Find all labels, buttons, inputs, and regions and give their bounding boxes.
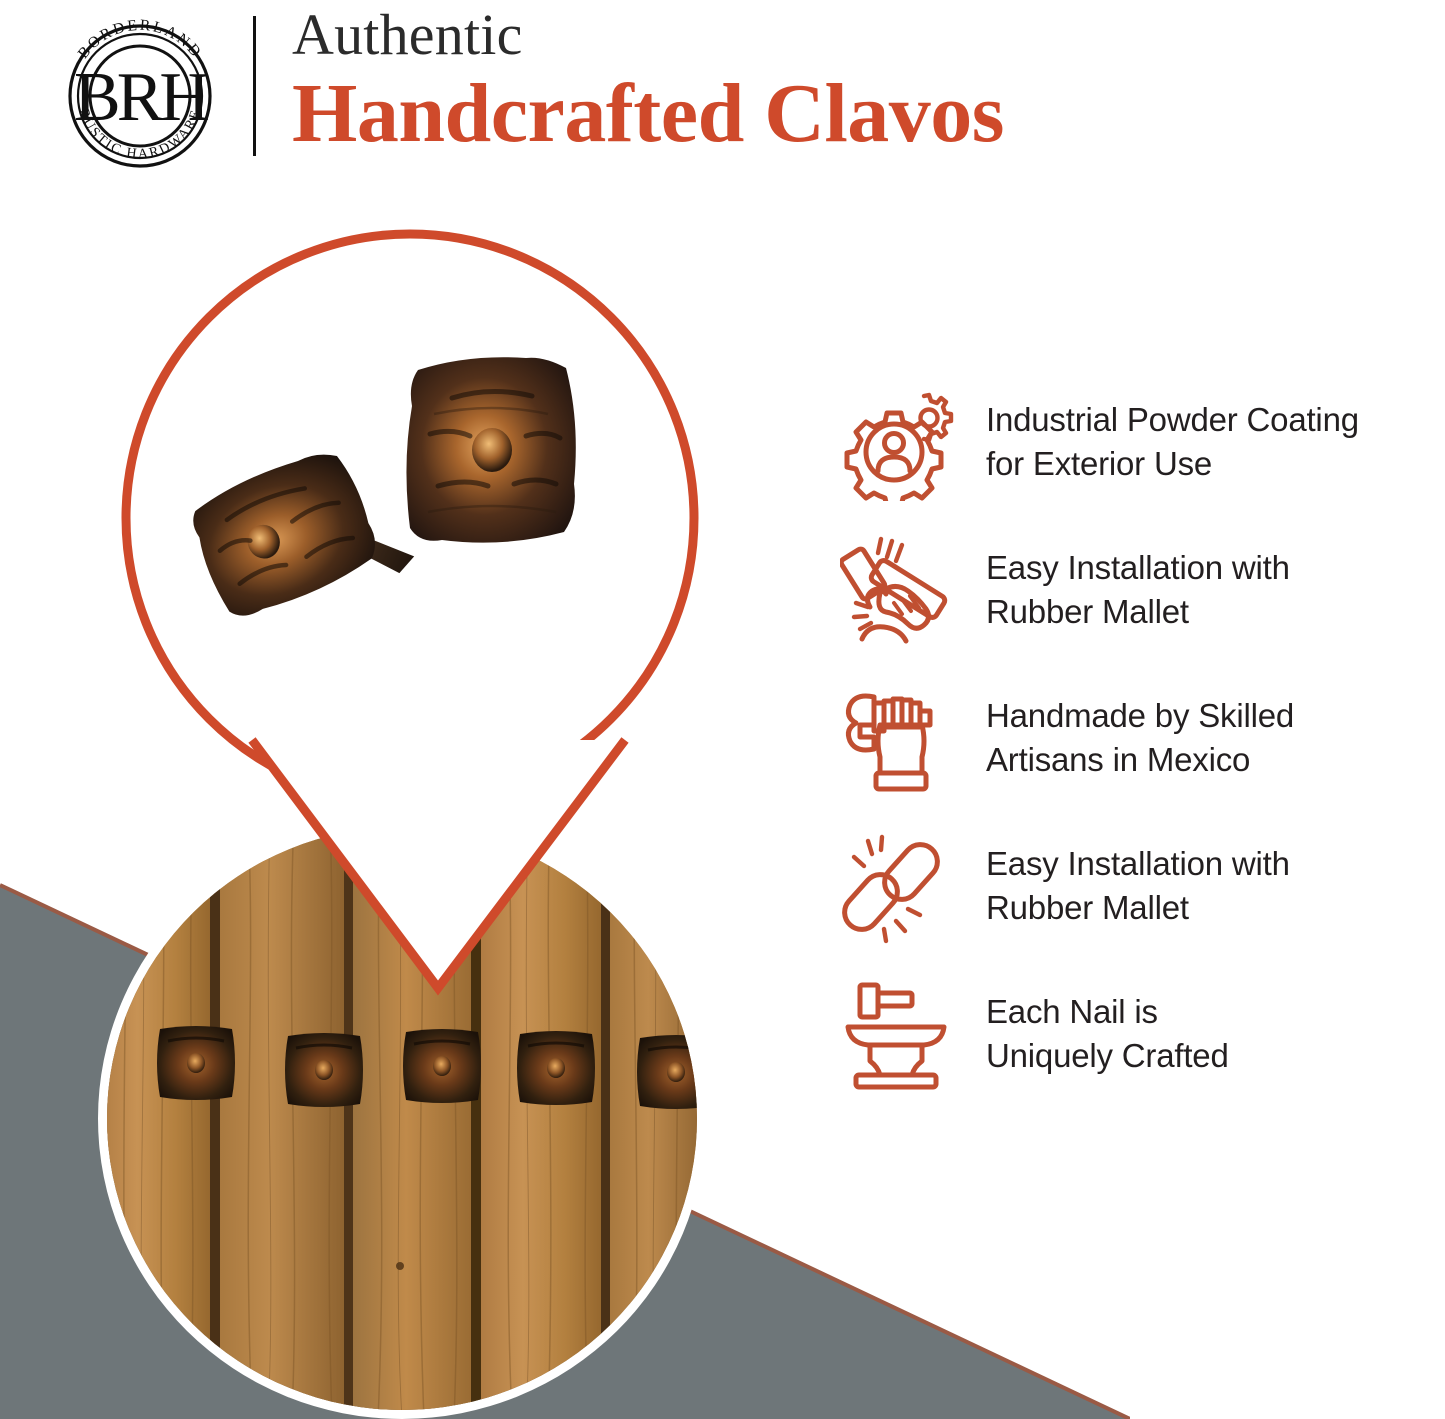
- clavos-product-photo: [140, 330, 700, 750]
- feature-item: Easy Installation with Rubber Mallet: [840, 516, 1445, 664]
- feature-label: Industrial Powder Coating for Exterior U…: [986, 398, 1359, 486]
- gear-person-icon: [840, 383, 958, 501]
- wooden-door-photo-circle: [98, 818, 706, 1419]
- chain-link-icon: [840, 827, 958, 945]
- hand-mallet-icon: [840, 531, 958, 649]
- svg-text:BRH: BRH: [74, 59, 208, 136]
- borderland-rustic-hardware-logo-icon: BORDERLAND RUSTIC HARDWARE BRH: [52, 12, 227, 172]
- clavo-nail-front: [406, 357, 575, 542]
- page-header: BORDERLAND RUSTIC HARDWARE BRH Authentic…: [0, 0, 1445, 190]
- page-subtitle: Authentic: [292, 4, 1392, 66]
- clavo-nail-angled: [182, 432, 418, 639]
- feature-label: Each Nail is Uniquely Crafted: [986, 990, 1229, 1078]
- feature-item: Handmade by Skilled Artisans in Mexico: [840, 664, 1445, 812]
- feature-item: Easy Installation with Rubber Mallet: [840, 812, 1445, 960]
- feature-item: Each Nail is Uniquely Crafted: [840, 960, 1445, 1108]
- feature-label: Easy Installation with Rubber Mallet: [986, 842, 1290, 930]
- door-photo-clip: [98, 818, 706, 1419]
- feature-item: Industrial Powder Coating for Exterior U…: [840, 368, 1445, 516]
- page-title: Handcrafted Clavos: [292, 68, 1392, 160]
- anvil-hammer-icon: [840, 975, 958, 1093]
- feature-list: Industrial Powder Coating for Exterior U…: [840, 368, 1445, 1108]
- header-divider: [253, 16, 256, 156]
- infographic-page: BORDERLAND RUSTIC HARDWARE BRH Authentic…: [0, 0, 1445, 1419]
- feature-label: Easy Installation with Rubber Mallet: [986, 546, 1290, 634]
- wooden-door-with-clavos-image: [98, 818, 706, 1419]
- brand-logo: BORDERLAND RUSTIC HARDWARE BRH: [52, 12, 227, 172]
- hand-wrench-icon: [840, 679, 958, 797]
- feature-label: Handmade by Skilled Artisans in Mexico: [986, 694, 1294, 782]
- header-text-block: Authentic Handcrafted Clavos: [292, 4, 1392, 160]
